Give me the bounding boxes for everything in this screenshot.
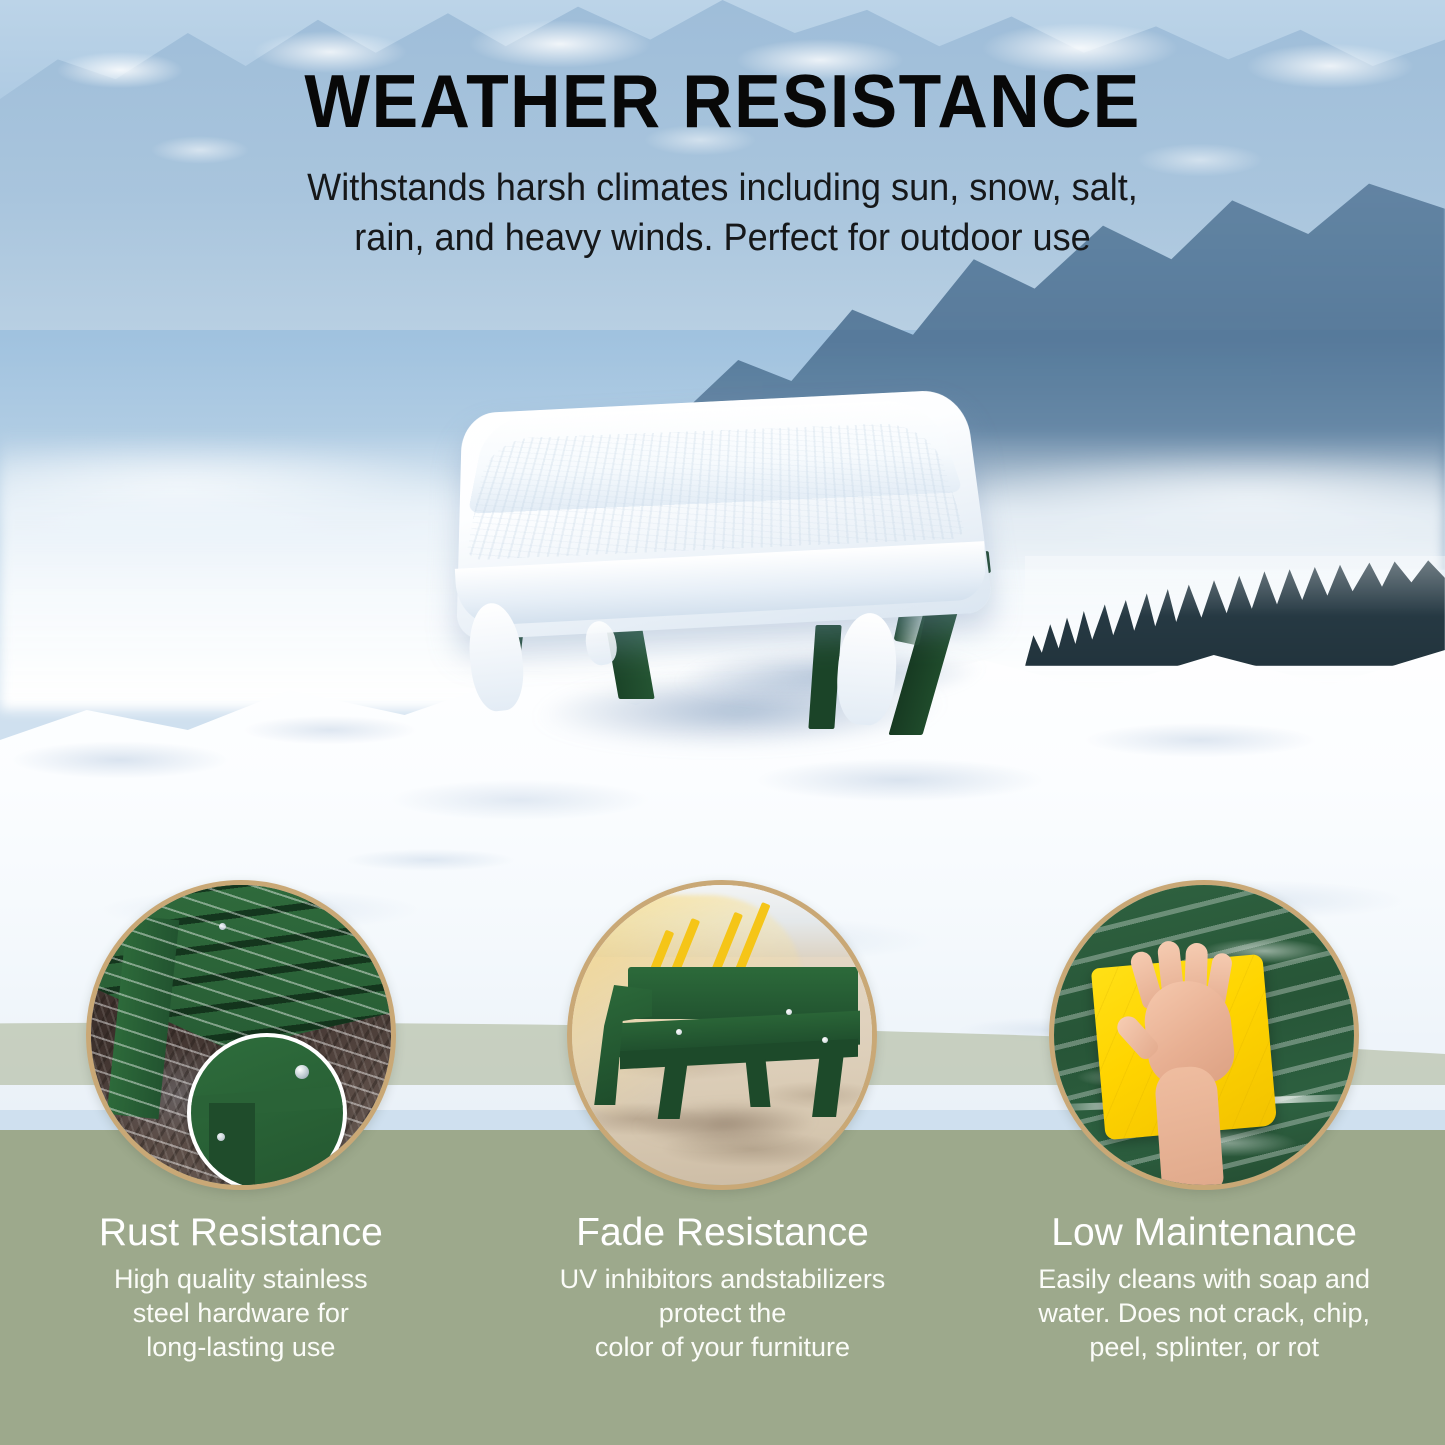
bench-backrest [628,967,858,1019]
magnifier-inset [187,1033,347,1190]
feature-body-line-3: color of your furniture [512,1330,932,1364]
feature-image-rust-resistance [86,880,396,1190]
feature-image-low-maintenance [1049,880,1359,1190]
feature-low-maintenance: Low Maintenance Easily cleans with soap … [989,880,1419,1364]
header: WEATHER RESISTANCE Withstands harsh clim… [0,62,1445,264]
feature-body-line-2: steel hardware for [31,1296,451,1330]
subtitle-line-1: Withstands harsh climates including sun,… [36,163,1409,214]
feature-body-line-1: High quality stainless [31,1262,451,1296]
wrist [1154,1065,1224,1190]
bench-leg-center [746,1059,771,1107]
bench-leg-right [813,1053,845,1117]
feature-caption: Fade Resistance UV inhibitors andstabili… [512,1212,932,1364]
inset-bench-leg [209,1103,255,1190]
feature-body: Easily cleans with soap and water. Does … [994,1262,1414,1364]
feature-body: High quality stainless steel hardware fo… [31,1262,451,1364]
stainless-screw-icon [295,1065,309,1079]
feature-body-line-2: protect the [512,1296,932,1330]
feature-body: UV inhibitors andstabilizers protect the… [512,1262,932,1364]
stainless-screw-secondary-icon [217,1133,225,1141]
feature-caption: Low Maintenance Easily cleans with soap … [994,1212,1414,1364]
feature-rust-resistance: Rust Resistance High quality stainless s… [26,880,456,1364]
feature-image-fade-resistance [567,880,877,1190]
feature-title: Fade Resistance [512,1212,932,1255]
feature-title: Rust Resistance [31,1212,451,1255]
green-bench [590,967,858,1119]
feature-caption: Rust Resistance High quality stainless s… [31,1212,451,1364]
subtitle-line-2: rain, and heavy winds. Perfect for outdo… [36,213,1409,264]
feature-title: Low Maintenance [994,1212,1414,1255]
feature-body-line-1: UV inhibitors andstabilizers [512,1262,932,1296]
page-subtitle: Withstands harsh climates including sun,… [36,163,1409,264]
feature-body-line-1: Easily cleans with soap and [994,1262,1414,1296]
feature-body-line-3: long-lasting use [31,1330,451,1364]
page-title: WEATHER RESISTANCE [51,62,1395,141]
snow-grain-texture [465,422,967,560]
treeline-haze [1025,556,1445,666]
feature-body-line-3: peel, splinter, or rot [994,1330,1414,1364]
feature-fade-resistance: Fade Resistance UV inhibitors andstabili… [507,880,937,1364]
feature-body-line-2: water. Does not crack, chip, [994,1296,1414,1330]
weather-resistance-infographic: WEATHER RESISTANCE Withstands harsh clim… [0,0,1445,1445]
hero-product-snow-covered-footstool [440,385,1020,765]
feature-list: Rust Resistance High quality stainless s… [0,880,1445,1400]
